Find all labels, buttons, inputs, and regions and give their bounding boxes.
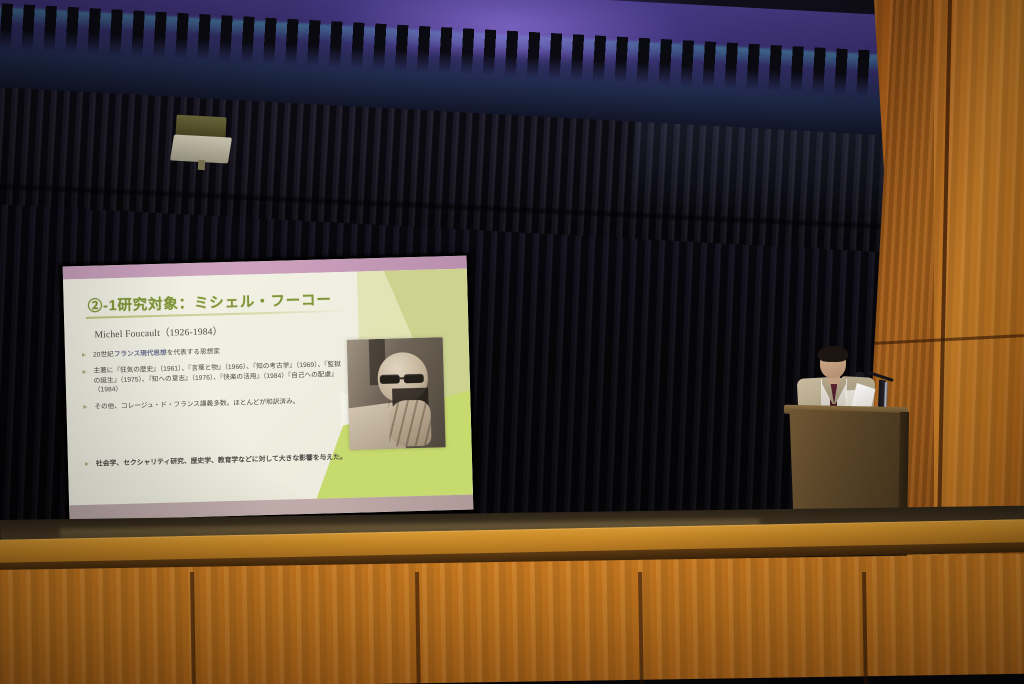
slide-bullet-1: 20世紀フランス現代思想を代表する思想家	[79, 344, 347, 361]
bullet-1-highlight: フランス現代思想	[114, 350, 167, 358]
slide-subtitle: Michel Foucault（1926-1984）	[94, 323, 222, 340]
slide-bullet-4: 社会学、セクシャリティ研究、歴史学、教育学などに対して大きな影響を与えた。	[82, 453, 360, 470]
portrait-sepia-tone	[347, 337, 446, 450]
bullet-1-post: を代表する思想家	[167, 348, 220, 356]
bullet-1-pre: 20世紀	[93, 351, 114, 359]
stage-front-paneling	[0, 554, 1024, 684]
foucault-portrait-image	[347, 337, 446, 450]
slide-content-area: ②-1研究対象：ミシェル・フーコー Michel Foucault（1926-1…	[63, 269, 473, 506]
slide-bullet-2: 主著に『狂気の歴史』（1961）、『言葉と物』（1966）、『知の考古学』（19…	[79, 360, 348, 395]
stage-photo-scene: ②-1研究対象：ミシェル・フーコー Michel Foucault（1926-1…	[0, 0, 1024, 684]
slide-bullet-list: 20世紀フランス現代思想を代表する思想家 主著に『狂気の歴史』（1961）、『言…	[79, 344, 349, 419]
slide-bullet-3: その他、コレージュ・ド・フランス講義多数。ほとんどが和訳済み。	[80, 395, 348, 412]
stage-light-fixture-stem	[198, 160, 206, 170]
projection-screen: ②-1研究対象：ミシェル・フーコー Michel Foucault（1926-1…	[63, 256, 474, 521]
presenter-hair	[818, 346, 848, 362]
